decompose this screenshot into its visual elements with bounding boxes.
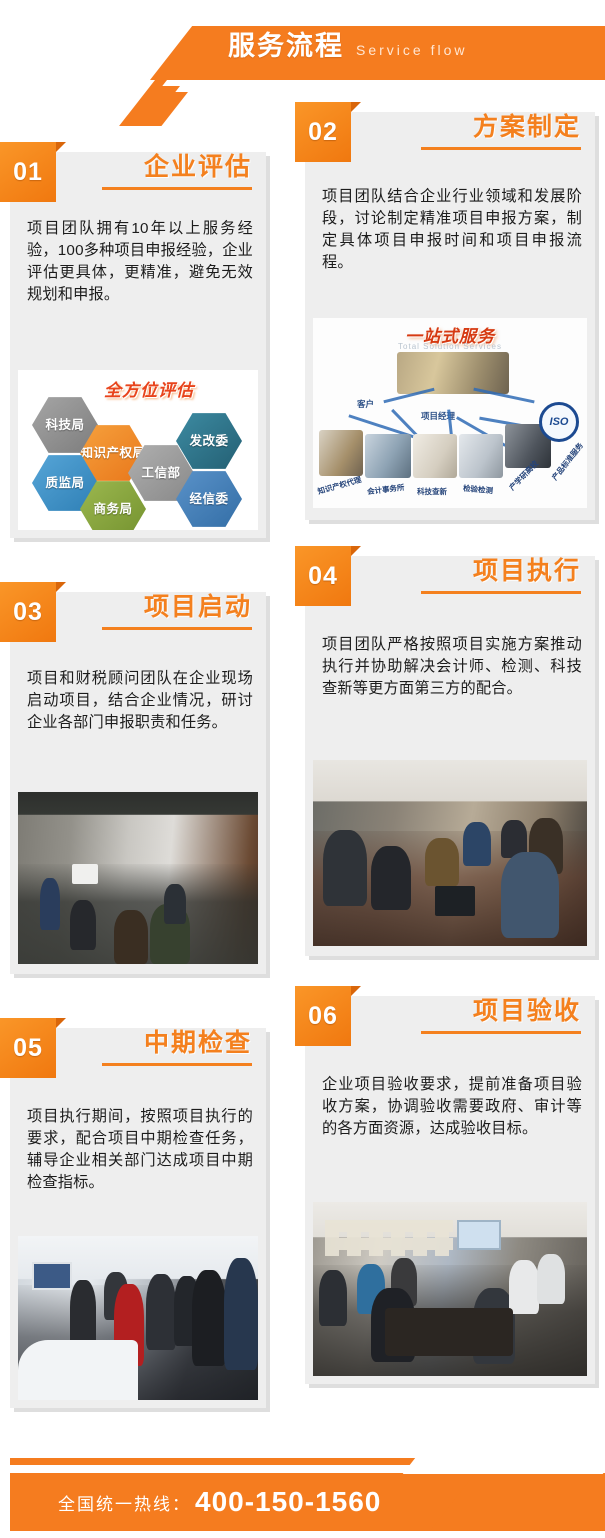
assessment-hexagon-figure: 全方位评估 科技局 知识产权局 发改委 质监局 工信部 商务局 经信委 [18,370,258,530]
step-number-badge-03: 03 [0,582,56,642]
step-card-04[interactable]: 04 项目执行 项目团队严格按照项目实施方案推动执行并协助解决会计师、检测、科技… [305,556,595,956]
photo-project-acceptance [313,1202,587,1376]
photo-person-e [164,884,186,924]
step-card-01[interactable]: 01 企业评估 项目团队拥有10年以上服务经验，100多种项目申报经验，企业评估… [10,152,266,538]
photo-certificates-wall [325,1220,453,1256]
badge-notch-06 [351,986,361,996]
card-title-06: 项目验收 [421,998,581,1026]
badge-notch-03 [56,582,66,592]
card-body-03: 项目和财税顾问团队在企业现场启动项目，结合企业情况，研讨企业各部门申报职责和任务… [10,668,266,734]
photo-whiteboard [72,864,98,884]
photo-kickoff-meeting [18,792,258,964]
photo-projection-screen [457,1220,501,1250]
badge-notch-02 [351,102,361,112]
service-photo-office [365,434,411,478]
photo-attendee-a [319,1270,347,1326]
hexagon-figure-title: 全方位评估 [104,376,194,401]
card-title-block-03: 项目启动 [102,594,252,630]
photo-person-c [114,910,148,964]
card-body-06: 企业项目验收要求，提前准备项目验收方案，协调验收需要政府、审计等的各方面资源，达… [305,1074,595,1140]
photo-person-a [40,878,60,930]
photo-attendee-g [537,1254,565,1304]
card-title-block-02: 方案制定 [421,114,581,150]
title-underline-01 [102,187,252,190]
photo-worker-c [425,838,459,886]
one-stop-service-figure: 一站式服务 Total Solution Services 客户 项目经理 IS… [313,318,587,508]
service-figure-subtitle: Total Solution Services [313,342,587,351]
card-header-02: 02 方案制定 [305,112,595,174]
photo-worker-a [323,830,367,906]
photo-worker-b [371,846,411,910]
title-underline-04 [421,591,581,594]
card-title-01: 企业评估 [102,154,252,182]
hotline-number[interactable]: 400-150-1560 [195,1486,381,1518]
service-flow-poster: 服务流程 Service flow 01 企业评估 项目团队拥有10年以上服务经… [0,0,605,1538]
service-leaf-tech-search: 科技查新 [417,486,447,497]
card-body-02: 项目团队结合企业行业领域和发展阶段，讨论制定精准项目申报方案，制定具体项目申报时… [305,186,595,274]
service-leaf-inspection: 检验检测 [463,483,494,497]
card-body-04: 项目团队严格按照项目实施方案推动执行并协助解决会计师、检测、科技查新等更方面第三… [305,634,595,700]
step-card-03[interactable]: 03 项目启动 项目和财税顾问团队在企业现场启动项目，结合企业情况，研讨企业各部… [10,592,266,974]
card-title-block-05: 中期检查 [102,1030,252,1066]
title-underline-05 [102,1063,252,1066]
photo-midterm-inspection [18,1236,258,1400]
hotline-label: 全国统一热线： [58,1490,191,1515]
service-top-photo [397,352,509,394]
step-number-badge-02: 02 [295,102,351,162]
photo-visitor-c [146,1274,176,1350]
photo-worker-g [501,852,559,938]
service-leaf-ip-agency: 知识产权代理 [316,474,362,497]
step-card-02[interactable]: 02 方案制定 项目团队结合企业行业领域和发展阶段，讨论制定精准项目申报方案，制… [305,112,595,520]
card-header-01: 01 企业评估 [10,152,266,214]
iso-seal-icon: ISO [539,402,579,442]
title-underline-06 [421,1031,581,1034]
card-header-05: 05 中期检查 [10,1028,266,1090]
service-photo-books [319,430,363,476]
page-footer: 全国统一热线： 400-150-1560 [0,1416,605,1538]
card-body-05: 项目执行期间，按照项目执行的要求，配合项目中期检查任务，辅导企业相关部门达成项目… [10,1106,266,1194]
hotline-group: 全国统一热线： 400-150-1560 [58,1473,381,1531]
photo-counter [18,1340,138,1400]
step-number-badge-01: 01 [0,142,56,202]
photo-visitor-e [192,1270,226,1366]
page-title: 服务流程 [228,33,344,60]
step-number-badge-05: 05 [0,1018,56,1078]
photo-visitor-f [224,1258,258,1370]
service-photo-lab [459,434,503,478]
card-header-06: 06 项目验收 [305,996,595,1058]
badge-notch-04 [351,546,361,556]
card-header-04: 04 项目执行 [305,556,595,618]
badge-notch-01 [56,142,66,152]
card-title-block-04: 项目执行 [421,558,581,594]
service-leaf-product-standard: 产品标准服务 [549,440,585,482]
step-card-06[interactable]: 06 项目验收 企业项目验收要求，提前准备项目验收方案，协调验收需要政府、审计等… [305,996,595,1384]
badge-notch-05 [56,1018,66,1028]
page-subtitle: Service flow [356,42,467,58]
photo-laptop [435,886,475,916]
card-title-04: 项目执行 [421,558,581,586]
card-title-block-06: 项目验收 [421,998,581,1034]
header-title-group: 服务流程 Service flow [228,33,467,60]
photo-attendee-f [509,1260,539,1314]
service-photo-documents [413,434,457,478]
card-title-block-01: 企业评估 [102,154,252,190]
service-leaf-accounting: 会计事务所 [366,482,405,497]
step-number-badge-04: 04 [295,546,351,606]
photo-table [385,1308,513,1356]
footer-band-cutout [403,1416,605,1474]
card-header-03: 03 项目启动 [10,592,266,654]
step-number-badge-06: 06 [295,986,351,1046]
photo-visitor-a [70,1280,96,1348]
title-underline-02 [421,147,581,150]
photo-wall-screen [32,1262,72,1290]
card-title-02: 方案制定 [421,114,581,142]
title-underline-03 [102,627,252,630]
step-card-05[interactable]: 05 中期检查 项目执行期间，按照项目执行的要求，配合项目中期检查任务，辅导企业… [10,1028,266,1408]
card-title-05: 中期检查 [102,1030,252,1058]
service-node-customer: 客户 [357,398,374,410]
photo-worker-d [463,822,491,866]
card-body-01: 项目团队拥有10年以上服务经验，100多种项目申报经验，企业评估更具体，更精准，… [10,218,266,306]
photo-person-b [70,900,96,950]
photo-project-execution [313,760,587,946]
card-title-03: 项目启动 [102,594,252,622]
